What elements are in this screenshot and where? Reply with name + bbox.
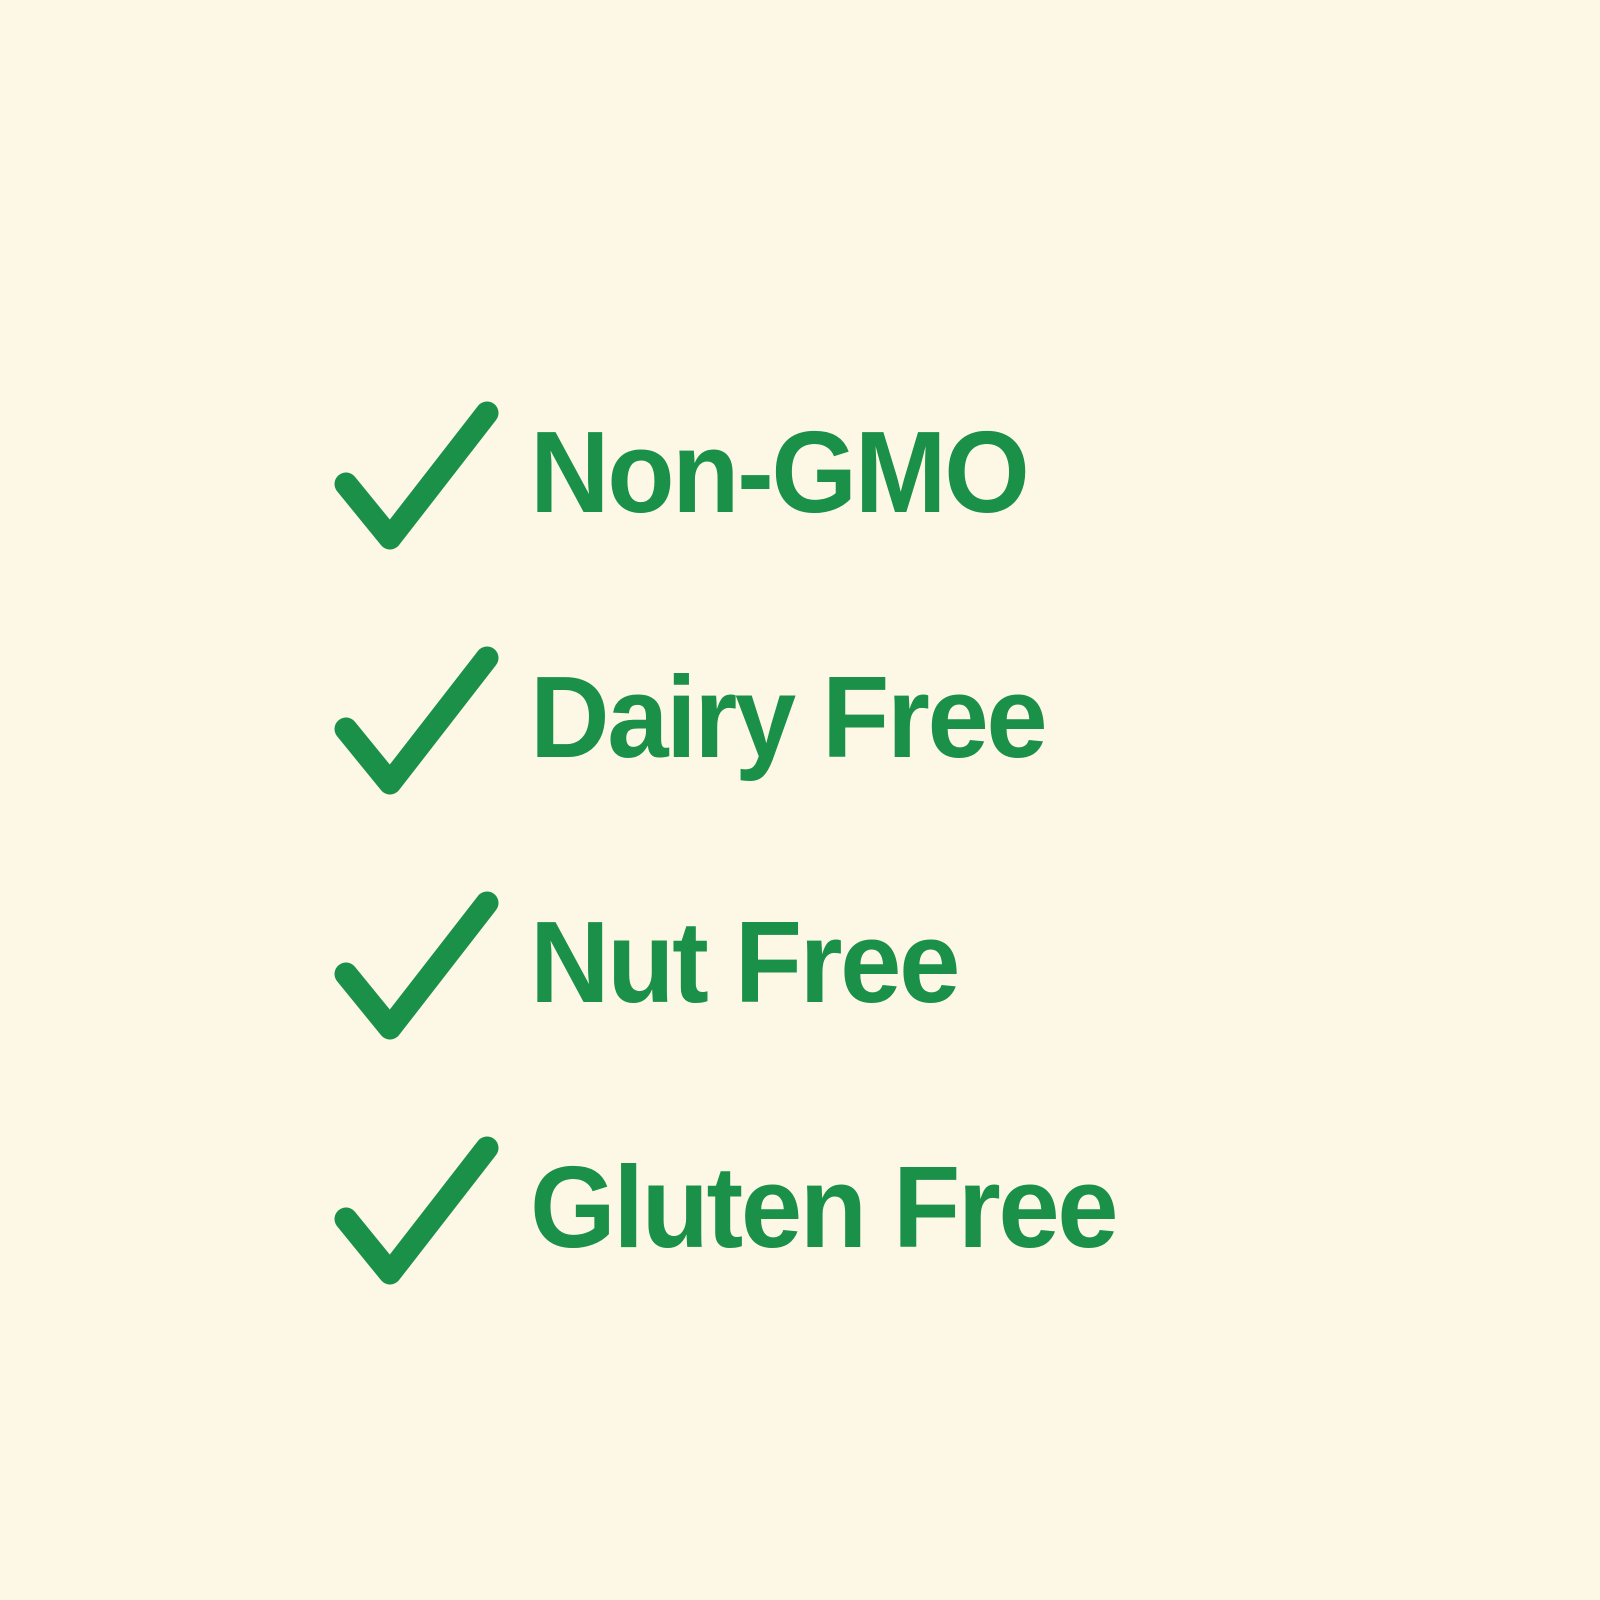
claim-label: Non-GMO	[530, 414, 1028, 536]
list-item: Dairy Free	[340, 597, 1340, 842]
checkmark-icon	[340, 645, 500, 795]
claim-label: Nut Free	[530, 904, 958, 1026]
product-claims-panel: Non-GMO Dairy Free Nut Free	[0, 0, 1600, 1600]
list-item: Gluten Free	[340, 1087, 1340, 1332]
claim-label: Dairy Free	[530, 659, 1045, 781]
checkmark-icon	[340, 400, 500, 550]
list-item: Non-GMO	[340, 352, 1340, 597]
checkmark-icon	[340, 1135, 500, 1285]
list-item: Nut Free	[340, 842, 1340, 1087]
claims-list: Non-GMO Dairy Free Nut Free	[340, 352, 1340, 1332]
checkmark-icon	[340, 890, 500, 1040]
claim-label: Gluten Free	[530, 1149, 1116, 1271]
